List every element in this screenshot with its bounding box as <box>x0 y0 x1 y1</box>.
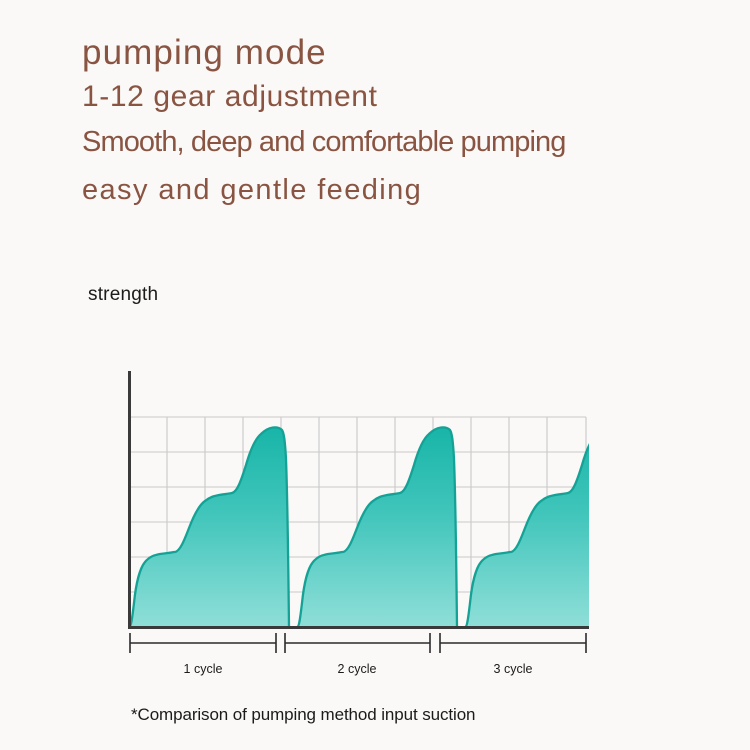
y-axis-label: strength <box>88 284 158 306</box>
chart-caption: *Comparison of pumping method input suct… <box>131 705 475 725</box>
suction-chart <box>0 355 750 655</box>
cycle-bracket-row: 1 cycle 2 cycle 3 cycle <box>0 628 750 688</box>
cycle-area-1 <box>129 427 289 627</box>
chart-svg <box>0 355 750 655</box>
headline-line-1: pumping mode <box>82 30 682 75</box>
cycle-label-2: 2 cycle <box>338 662 377 676</box>
product-infographic: pumping mode 1-12 gear adjustment Smooth… <box>0 0 750 750</box>
cycle-bracket-2 <box>285 633 430 653</box>
cycle-label-1: 1 cycle <box>184 662 223 676</box>
headline-line-2: 1-12 gear adjustment <box>82 75 682 119</box>
headline-line-3: Smooth, deep and comfortable pumping <box>82 119 682 166</box>
cycle-area-3 <box>465 427 625 627</box>
cycle-area-2 <box>297 427 457 627</box>
cycle-label-3: 3 cycle <box>494 662 533 676</box>
cycle-bracket-1 <box>130 633 276 653</box>
headline-line-4: easy and gentle feeding <box>82 166 682 215</box>
cycle-bracket-3 <box>440 633 586 653</box>
headline-block: pumping mode 1-12 gear adjustment Smooth… <box>82 30 682 215</box>
